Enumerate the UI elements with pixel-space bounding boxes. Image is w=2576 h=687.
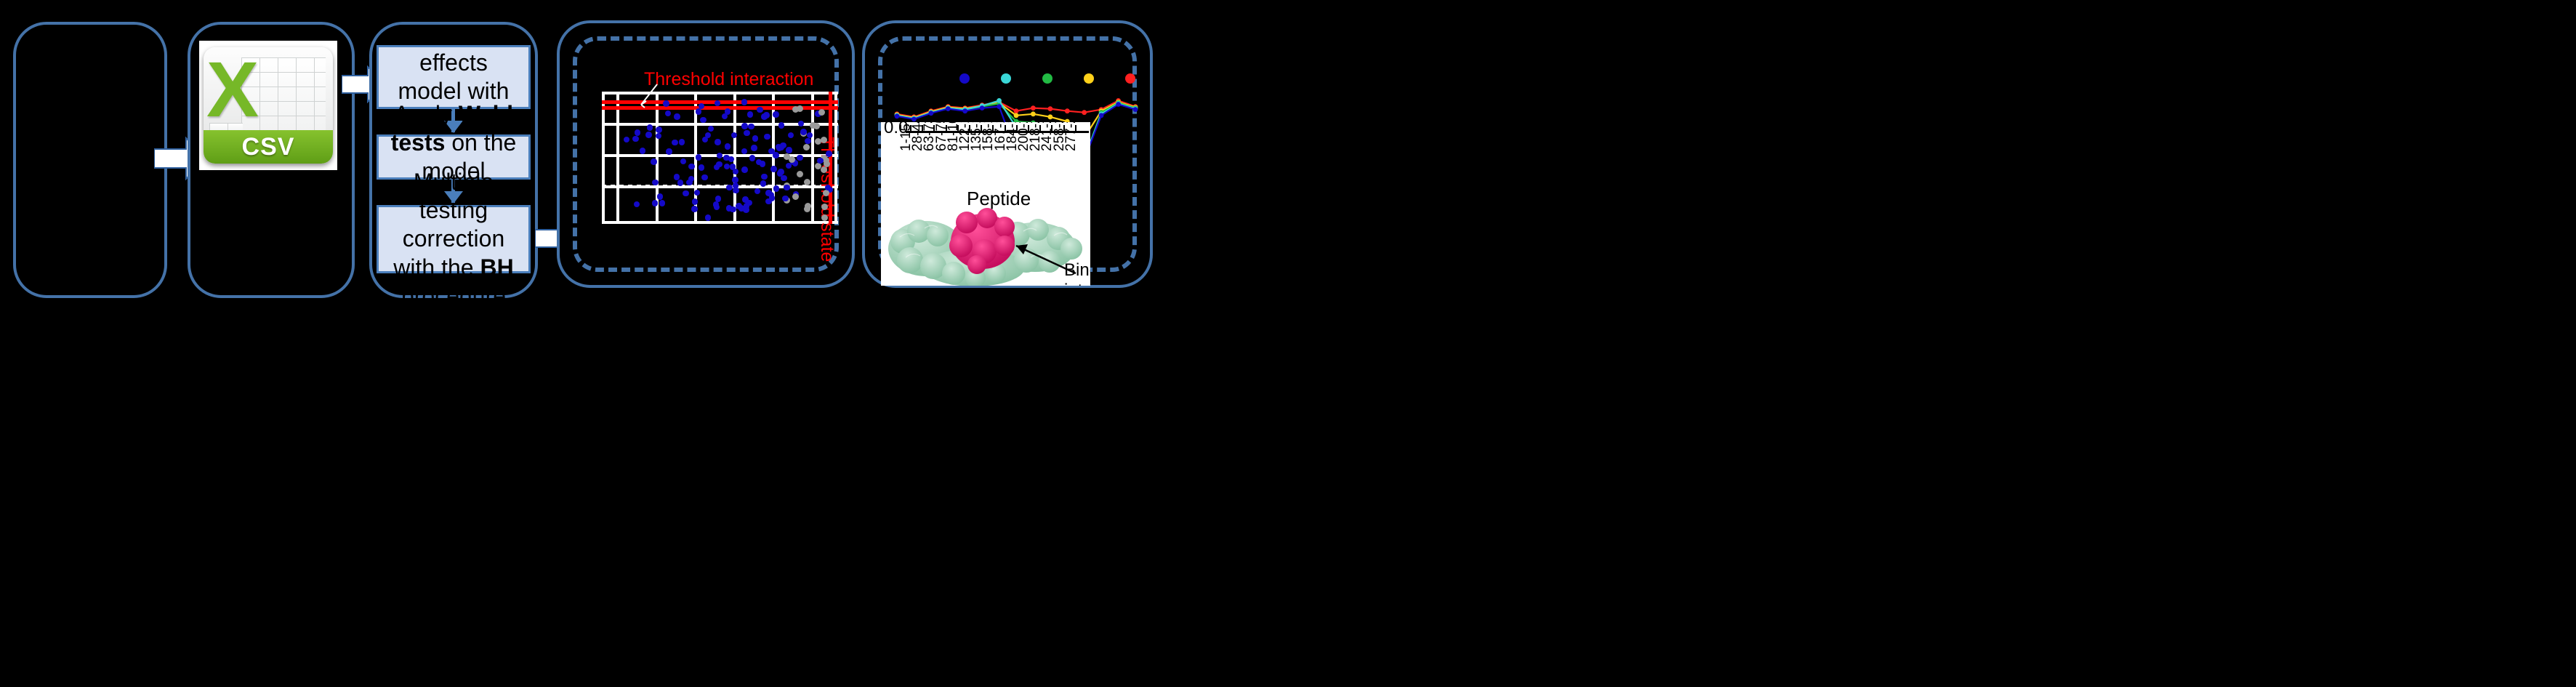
data-point — [946, 106, 951, 111]
scatter-point — [741, 123, 748, 129]
data-point — [911, 117, 917, 122]
data-point — [1031, 111, 1036, 116]
scatter-point — [696, 154, 702, 161]
scatter-point — [800, 129, 807, 135]
scatter-point — [810, 122, 816, 129]
scatter-point — [773, 185, 780, 192]
scatter-point — [725, 143, 731, 150]
figure-root: X CSV Fit a linear mixed-effects model w… — [0, 0, 2576, 687]
data-point — [1048, 114, 1053, 119]
scatter-point — [803, 144, 810, 150]
data-point — [1014, 113, 1019, 118]
data-point — [1031, 105, 1036, 111]
data-point — [1065, 108, 1070, 113]
scatter-point — [815, 163, 821, 169]
data-point — [980, 105, 985, 111]
scatter-point — [651, 158, 657, 165]
binding-interface-label: Binding interface — [1064, 260, 1090, 286]
scatter-point — [696, 108, 702, 115]
scatter-point — [778, 145, 784, 151]
scatter-point — [700, 117, 707, 124]
scatter-point — [792, 193, 799, 200]
scatter-point — [760, 161, 766, 167]
multiple-testing-step: Multiple testing correctionwith the BH p… — [377, 205, 531, 273]
scatter-point — [677, 180, 684, 186]
scatter-point — [815, 138, 821, 145]
scatter-point — [752, 135, 759, 142]
scatter-point — [742, 196, 749, 203]
scatter-point — [692, 198, 699, 205]
scatter-point — [786, 147, 792, 153]
scatter-point — [761, 174, 768, 180]
csv-file-card: X CSV — [199, 41, 337, 170]
scatter-point — [805, 138, 811, 145]
scatter-point — [645, 132, 652, 138]
data-point — [1099, 113, 1104, 118]
protein-surface-image — [881, 204, 1090, 286]
volcano-scatter: Threshold interaction Threshold state — [602, 70, 838, 230]
legend-dot-series-5 — [1125, 73, 1135, 84]
legend-dot-series-4 — [1084, 73, 1094, 84]
excel-x-glyph: X — [206, 50, 259, 129]
peptide-axis-inset: 0.0 1-1528-4463-7367-7581-101122-129135-… — [881, 122, 1090, 286]
scatter-point — [635, 129, 641, 136]
scatter-point — [817, 158, 824, 164]
scatter-point — [699, 164, 705, 171]
data-point — [895, 113, 900, 118]
scatter-point — [747, 111, 754, 118]
scatter-point — [744, 203, 750, 209]
scatter-point — [789, 156, 795, 163]
input-panel — [13, 22, 167, 298]
binding-interface-line1: Binding — [1064, 260, 1090, 281]
scatter-point — [818, 109, 825, 116]
scatter-point — [715, 139, 721, 145]
scatter-point — [760, 180, 767, 187]
scatter-point — [777, 170, 784, 177]
scatter-point — [797, 155, 803, 161]
legend-dot-series-2 — [1001, 73, 1011, 84]
scatter-point — [663, 100, 669, 107]
scatter-point — [657, 193, 664, 200]
scatter-point — [694, 190, 701, 196]
scatter-point — [821, 204, 828, 210]
scatter-point — [741, 166, 748, 173]
legend-dot-series-1 — [959, 73, 970, 84]
scatter-point — [672, 140, 678, 146]
scatter-point — [732, 177, 738, 183]
csv-band: CSV — [204, 130, 333, 164]
scatter-point — [764, 134, 770, 140]
binding-interface-line2: interface — [1064, 281, 1090, 286]
scatter-point — [751, 145, 757, 151]
scatter-point — [749, 155, 756, 161]
scatter-point — [652, 200, 659, 206]
scatter-point — [804, 206, 810, 212]
scatter-point — [659, 200, 666, 206]
data-point — [929, 111, 934, 116]
scatter-point — [773, 111, 779, 118]
scatter-point — [688, 164, 695, 170]
scatter-point — [741, 99, 748, 105]
scatter-point — [765, 198, 772, 205]
scatter-point — [674, 174, 680, 180]
scatter-point — [640, 148, 646, 154]
threshold-leader-line — [637, 83, 660, 109]
data-point — [1116, 102, 1121, 107]
scatter-point — [725, 108, 731, 115]
scatter-point — [773, 152, 779, 158]
scatter-point — [666, 148, 672, 155]
scatter-point — [736, 203, 742, 209]
scatter-point — [652, 180, 659, 186]
scatter-point — [741, 148, 748, 155]
multiple-testing-step-label: Multiple testing correctionwith the BH p… — [386, 168, 521, 310]
scatter-point — [683, 190, 689, 197]
legend-dot-series-3 — [1042, 73, 1052, 84]
scatter-point — [730, 206, 736, 213]
scatter-point — [705, 214, 712, 221]
threshold-interaction-label: Threshold interaction — [644, 69, 813, 90]
scatter-point — [761, 113, 768, 120]
csv-band-label: CSV — [242, 133, 295, 161]
scatter-point — [782, 196, 789, 202]
data-point — [997, 98, 1002, 103]
scatter-point — [744, 130, 750, 137]
scatter-point — [679, 139, 685, 145]
data-point — [1133, 107, 1138, 112]
scatter-point — [778, 122, 785, 129]
scatter-point — [797, 105, 803, 112]
scatter-point — [656, 126, 662, 133]
scatter-point — [647, 124, 653, 131]
scatter-point — [632, 136, 639, 142]
scatter-point — [691, 206, 698, 212]
fit-model-step: Fit a linear mixed-effects model with RE… — [377, 45, 531, 109]
scatter-point — [757, 107, 763, 113]
scatter-point — [788, 132, 794, 139]
x-axis-tick-label: 277-284 — [1063, 122, 1079, 151]
data-point — [997, 104, 1002, 109]
scatter-point — [674, 113, 680, 120]
scatter-point — [726, 185, 733, 191]
data-point — [1082, 110, 1087, 115]
data-point — [962, 108, 967, 113]
scatter-point — [770, 166, 777, 172]
csv-file-icon: X CSV — [204, 47, 333, 164]
data-point — [1048, 106, 1053, 111]
scatter-point — [823, 157, 829, 164]
scatter-point — [733, 188, 739, 194]
data-point — [1014, 108, 1019, 113]
scatter-point — [784, 185, 790, 191]
